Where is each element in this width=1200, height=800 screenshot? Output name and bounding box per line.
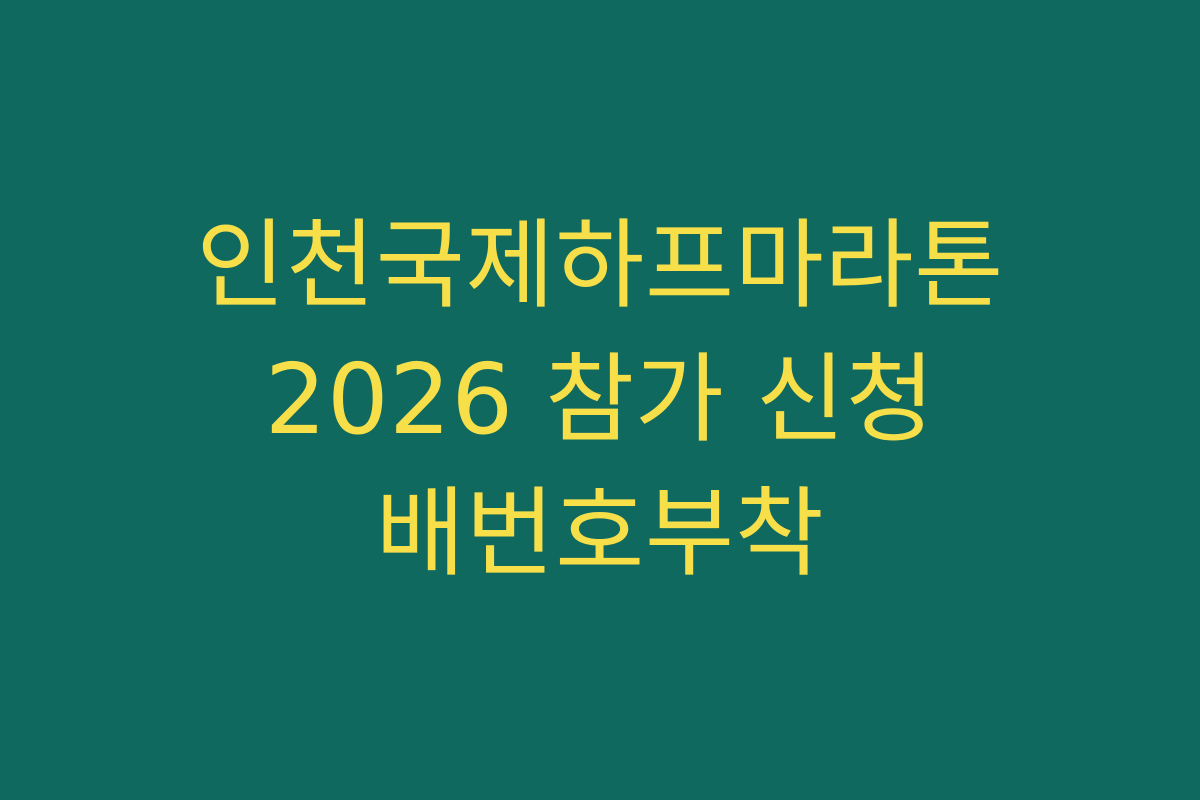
title-card: 인천국제하프마라톤 2026 참가 신청 배번호부착 xyxy=(0,0,1200,800)
page-title: 인천국제하프마라톤 2026 참가 신청 배번호부착 xyxy=(108,199,1092,601)
title-block: 인천국제하프마라톤 2026 참가 신청 배번호부착 xyxy=(100,199,1100,601)
